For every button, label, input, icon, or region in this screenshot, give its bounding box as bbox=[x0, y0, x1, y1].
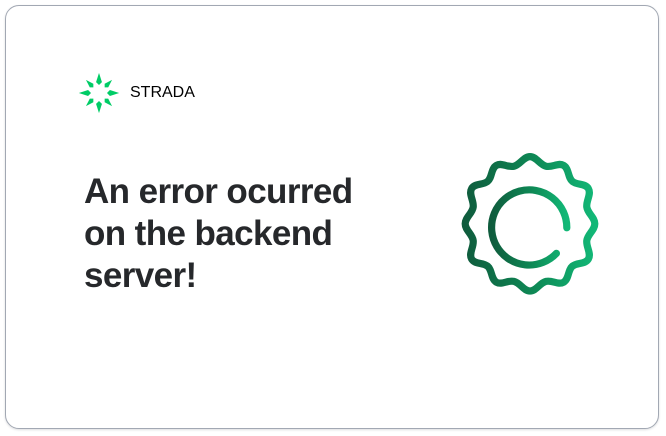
error-message: An error ocurred on the backend server! bbox=[84, 171, 374, 297]
brand-lockup: STRADA bbox=[78, 72, 195, 114]
strada-asterisk-icon bbox=[78, 72, 120, 114]
gear-icon bbox=[450, 147, 610, 307]
error-card: STRADA An error ocurred on the backend s… bbox=[5, 5, 659, 429]
brand-name: STRADA bbox=[130, 84, 195, 102]
